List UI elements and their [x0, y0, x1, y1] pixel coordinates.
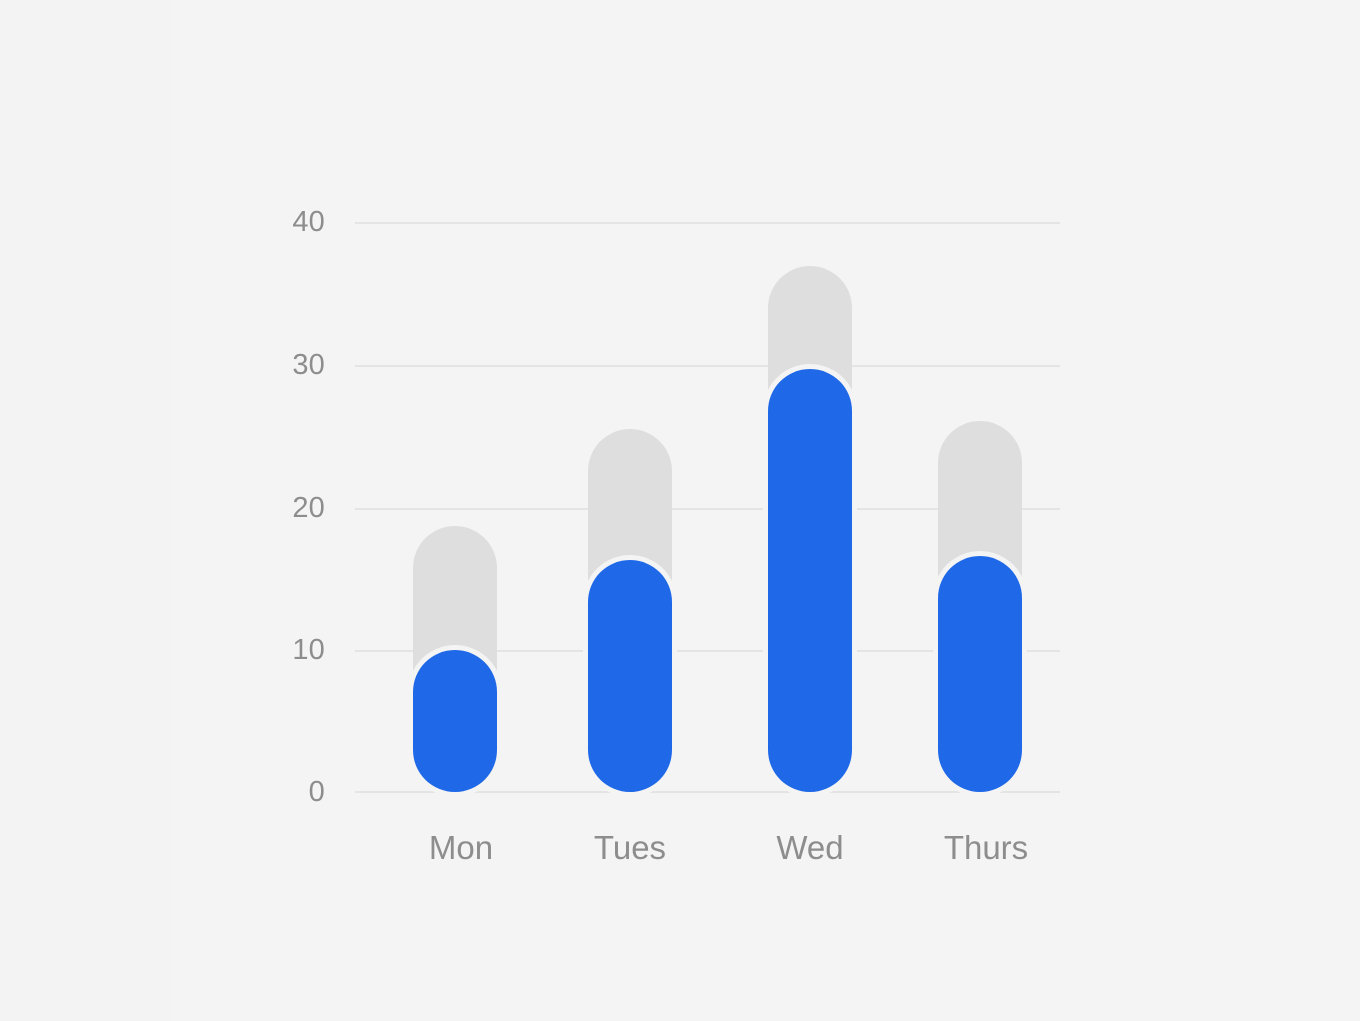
- bar-value-tues[interactable]: [588, 560, 672, 792]
- x-axis-tick-label-tues: Tues: [530, 831, 730, 864]
- bar-value-mon[interactable]: [413, 650, 497, 792]
- x-axis-tick-label-thurs: Thurs: [886, 831, 1086, 864]
- plot-area: 40 30 20 10 0 Mon Tues Wed Thurs: [0, 0, 1360, 1021]
- y-axis-tick-label: 0: [265, 778, 325, 807]
- y-axis-tick-label: 20: [265, 494, 325, 523]
- y-axis-tick-label: 10: [265, 636, 325, 665]
- y-axis-tick-label: 40: [265, 208, 325, 237]
- bar-value-wed[interactable]: [768, 369, 852, 792]
- bar-chart-canvas: 40 30 20 10 0 Mon Tues Wed Thurs: [0, 0, 1360, 1021]
- bar-value-thurs[interactable]: [938, 556, 1022, 792]
- gridline-30: [355, 365, 1060, 367]
- y-axis-tick-label: 30: [265, 351, 325, 380]
- x-axis-tick-label-wed: Wed: [710, 831, 910, 864]
- gridline-40: [355, 222, 1060, 224]
